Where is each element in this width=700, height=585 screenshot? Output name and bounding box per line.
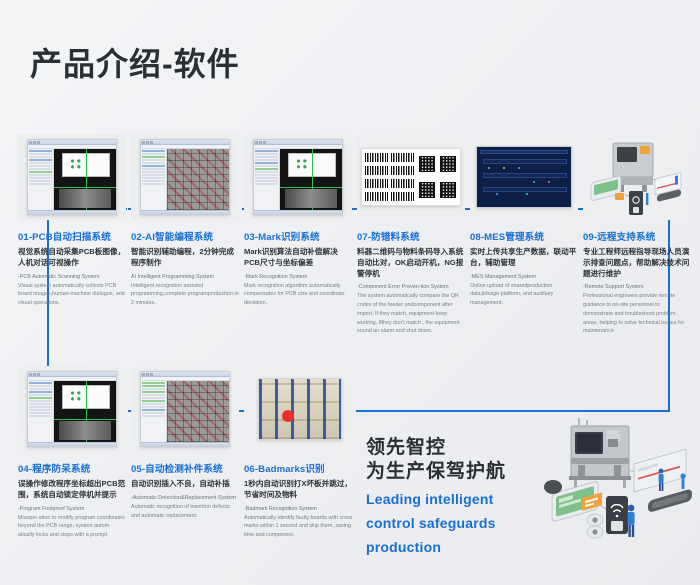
card-02-en-desc: Intelligent recognition assisted program… [131,282,239,308]
card-04-title: 04-程序防呆系统 [18,461,126,475]
card-05[interactable]: 05-自动检测补件系统 自动识别插入不良，自动补插 -Automatic Det… [131,366,239,520]
card-02-title: 02-AI智能编程系统 [131,229,239,243]
card-08-cn-desc: 实时上传共享生产数据，联动平台，辅助管理 [470,247,578,269]
card-06-thumbnail [244,366,356,452]
card-02-thumbnail [131,134,239,220]
card-07-title: 07-防错料系统 [357,229,465,243]
smart-factory-illustration-icon [538,408,698,585]
slogan-block: 领先智控 为生产保驾护航 Leading intelligent control… [366,436,556,556]
slogan-en-line2: control safeguards [366,514,556,532]
card-07-thumbnail [357,134,465,220]
card-04-thumbnail [18,366,126,452]
card-05-cn-desc: 自动识别插入不良，自动补插 [131,479,239,490]
card-04[interactable]: 04-程序防呆系统 误操作修改程序坐标超出PCB范围，系统自动锁定停机并提示 -… [18,366,126,540]
card-02[interactable]: 02-AI智能编程系统 智能识别辅助编程，2分钟完成程序制作 AI Intell… [131,134,239,308]
qr-code-icon [440,156,456,172]
card-09-thumbnail [583,134,691,220]
card-09-title: 09-远程支持系统 [583,229,691,243]
slogan-cn-line1: 领先智控 [366,436,556,460]
card-01-en-title: -PCB Automatic Scanning System [18,273,126,281]
card-08-en-desc: Online upload of sharedproduction data,l… [470,282,578,308]
card-02-cn-desc: 智能识别辅助编程，2分钟完成程序制作 [131,247,239,269]
card-03[interactable]: 03-Mark识别系统 Mark识别算法自动补偿解决PCB尺寸与坐标偏差 -Ma… [244,134,352,308]
worker-figure-front [628,505,635,537]
card-06-en-title: -Badmark Recognition System [244,505,356,513]
slogan-cn-line2: 为生产保驾护航 [366,460,556,484]
card-05-title: 05-自动检测补件系统 [131,461,239,475]
card-07-en-desc: The system automatically compare the QR … [357,292,465,336]
card-01-en-desc: Visual system automatically collects PCB… [18,282,126,308]
card-09-en-title: -Remote Support System [583,283,691,291]
card-03-title: 03-Mark识别系统 [244,229,352,243]
card-07-en-title: -Component Error Preven-tion System [357,283,465,291]
card-08[interactable]: 08-MES管理系统 实时上传共享生产数据，联动平台，辅助管理 -MES Man… [470,134,578,308]
card-01[interactable]: 01-PCB自动扫描系统 视觉系统自动采集PCB板图像，人机对话可视操作 -PC… [18,134,126,308]
card-04-en-desc: Misoper ation to modify program coordina… [18,514,126,540]
card-07[interactable]: 07-防错料系统 料器二维码与物料条码导入系统自动比对，OK启动开机，NG报警停… [357,134,465,336]
qr-code-icon [419,156,435,172]
badmark-red-dot [282,410,294,422]
card-04-cn-desc: 误操作修改程序坐标超出PCB范围，系统自动锁定停机并提示 [18,479,126,501]
qr-code-icon [419,182,435,198]
card-02-en-title: AI Intelligent Programming System [131,273,239,281]
card-08-title: 08-MES管理系统 [470,229,578,243]
slogan-en-line1: Leading intelligent [366,490,556,508]
card-01-title: 01-PCB自动扫描系统 [18,229,126,243]
slogan-en-line3: production [366,538,556,556]
remote-support-illustration-icon [585,137,689,217]
card-06-title: 06-Badmarks识别 [244,461,356,475]
card-06-cn-desc: 1秒内自动识别打X坏板并跳过，节省时间及物料 [244,479,356,501]
card-05-en-desc: Automatic recognition of insertion defec… [131,503,239,521]
card-06-en-desc: Automatically identify faulty boards wit… [244,514,356,540]
card-06[interactable]: 06-Badmarks识别 1秒内自动识别打X坏板并跳过，节省时间及物料 -Ba… [244,366,356,540]
card-03-thumbnail [244,134,352,220]
card-01-thumbnail [18,134,126,220]
page-title: 产品介绍-软件 [30,48,240,80]
card-08-en-title: -MES Management System [470,273,578,281]
card-05-en-title: -Automatic Detection&Replacement System [131,494,239,502]
card-03-en-desc: Mark recognition algorithm automatically… [244,282,352,308]
card-09-cn-desc: 专业工程师远程指导现场人员演示排查问题点，帮助解决技术问题进行维护 [583,247,691,279]
card-09-en-desc: Professional engineers provide remote gu… [583,292,691,336]
card-04-en-title: -Program Foolproof System [18,505,126,513]
card-07-cn-desc: 料器二维码与物料条码导入系统自动比对，OK启动开机，NG报警停机 [357,247,465,279]
card-03-cn-desc: Mark识别算法自动补偿解决PCB尺寸与坐标偏差 [244,247,352,269]
qr-code-icon [440,182,456,198]
card-08-thumbnail [470,134,578,220]
smart-factory-illustration [538,408,698,585]
card-05-thumbnail [131,366,239,452]
card-09[interactable]: 09-远程支持系统 专业工程师远程指导现场人员演示排查问题点，帮助解决技术问题进… [583,134,691,336]
card-01-cn-desc: 视觉系统自动采集PCB板图像，人机对话可视操作 [18,247,126,269]
worker-figure-back [659,469,664,491]
card-03-en-title: -Mark Recognition System [244,273,352,281]
slide-root: 产品介绍-软件 01-PCB自动扫描 [0,0,700,585]
